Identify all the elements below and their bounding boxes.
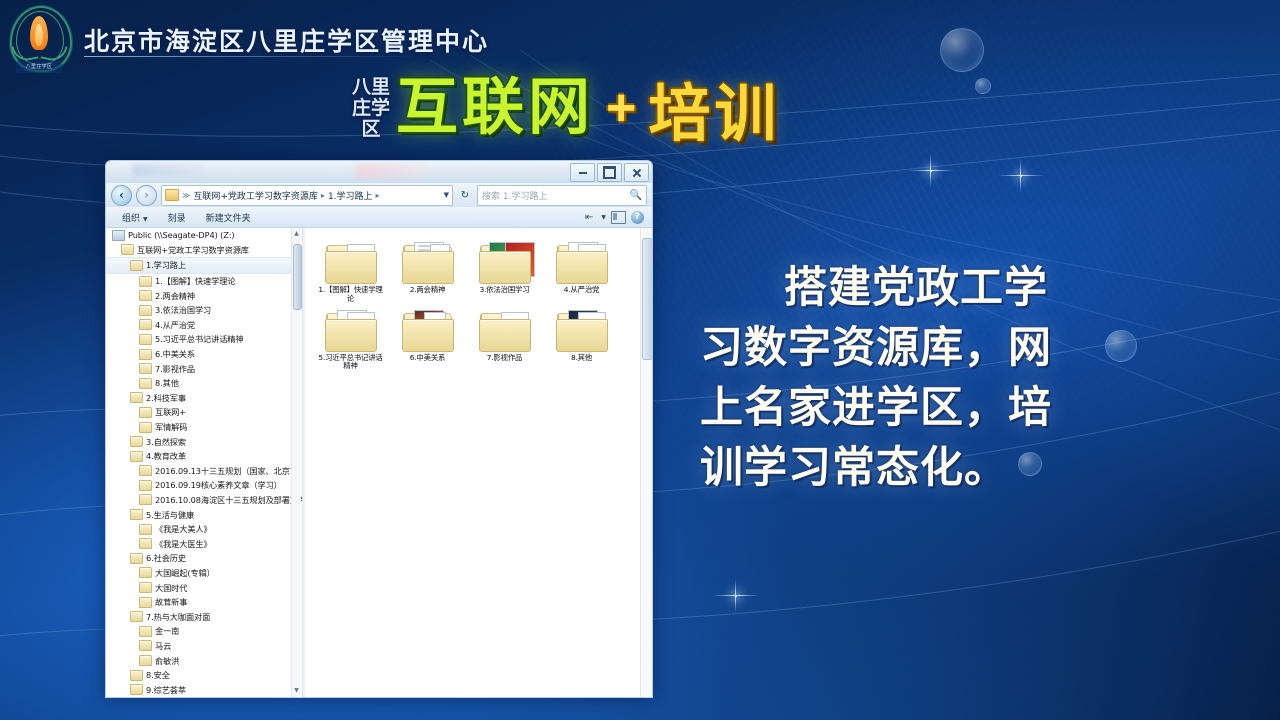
toolbar-right-group: ⇤ ▼ ? <box>585 211 646 224</box>
tree-item-label: 2016.10.08海淀区十三五规划及部署文件 <box>155 494 303 506</box>
folder-icon <box>139 363 152 374</box>
organization-name: 北京市海淀区八里庄学区管理中心 <box>84 22 489 58</box>
file-item-label: 8.其他 <box>571 354 592 363</box>
decorative-sparkle <box>1020 175 1022 177</box>
folder-icon <box>139 465 152 476</box>
folder-icon <box>139 422 152 433</box>
slogan-line-3: 上名家进学区，培 <box>700 378 1170 438</box>
tree-item-label: 4.教育改革 <box>146 450 186 462</box>
tree-item-label: 2.科技军事 <box>146 392 186 404</box>
tree-item-label: 8.其他 <box>155 377 179 389</box>
tree-item[interactable]: 故茸新事 <box>106 595 302 610</box>
close-button[interactable] <box>624 163 649 182</box>
tree-item[interactable]: 大国崛起(专辑） <box>106 566 302 581</box>
tree-item-label: 2.两会精神 <box>155 290 195 302</box>
file-item[interactable]: 6.中美关系 <box>394 308 461 372</box>
folder-icon <box>139 597 152 608</box>
new-folder-button[interactable]: 新建文件夹 <box>196 209 261 226</box>
folder-icon <box>479 240 531 284</box>
tree-item[interactable]: 7.热与大咖面对面 <box>106 609 302 624</box>
pane-splitter[interactable] <box>303 228 305 697</box>
folder-icon <box>325 240 377 284</box>
tree-item[interactable]: 俞敏洪 <box>106 653 302 668</box>
folder-icon <box>139 290 152 301</box>
folder-icon <box>556 308 608 352</box>
folder-icon <box>139 305 152 316</box>
breadcrumb-prefix: ≫ <box>182 191 190 200</box>
folder-icon <box>121 244 134 255</box>
folder-icon <box>139 582 152 593</box>
file-item[interactable]: 7.影视作品 <box>471 308 538 372</box>
file-item-label: 4.从严治党 <box>564 286 599 295</box>
file-item[interactable]: 3.依法治国学习 <box>471 240 538 304</box>
refresh-icon[interactable]: ↻ <box>457 186 473 204</box>
folder-icon <box>139 524 152 535</box>
breadcrumb-item-1[interactable]: 1.学习路上 <box>328 189 373 202</box>
window-titlebar[interactable] <box>106 161 652 183</box>
folder-icon <box>130 611 143 622</box>
address-bar: ‹ › ≫ 互联网+党政工学习数字资源库 ▸ 1.学习路上 ▸ ▼ ↻ 搜索 1… <box>106 183 652 207</box>
folder-icon <box>556 240 608 284</box>
explorer-body: Public (\\Seagate-DP4) (Z:)互联网+党政工学习数字资源… <box>106 228 652 697</box>
burn-button[interactable]: 刻录 <box>158 209 196 226</box>
tree-item[interactable]: 6.社会历史 <box>106 551 302 566</box>
tree-item[interactable]: 互联网+党政工学习数字资源库 <box>106 243 302 258</box>
tree-item-label: 互联网+党政工学习数字资源库 <box>137 244 249 256</box>
folder-icon <box>139 276 152 287</box>
tree-item[interactable]: 6.中美关系 <box>106 347 302 362</box>
chevron-down-icon[interactable]: ▼ <box>601 214 606 221</box>
tree-item[interactable]: 8.其他 <box>106 376 302 391</box>
tree-item[interactable]: 2.两会精神 <box>106 288 302 303</box>
folder-icon <box>139 538 152 549</box>
folder-icon <box>130 436 143 447</box>
folder-icon <box>130 451 143 462</box>
header-divider <box>84 56 414 57</box>
tree-item[interactable]: 5.习近平总书记讲话精神 <box>106 332 302 347</box>
folder-icon <box>130 553 143 564</box>
tree-item-label: 2016.09.13十三五规划（国家、北京市） <box>155 465 303 477</box>
tree-item-label: 9.综艺荟萃 <box>146 684 186 696</box>
folder-tree: Public (\\Seagate-DP4) (Z:)互联网+党政工学习数字资源… <box>106 228 302 697</box>
logo-plate-text: 八里庄学区 <box>16 61 62 73</box>
tree-item-label: 6.中美关系 <box>155 348 195 360</box>
tree-item-label: 3.自然探索 <box>146 436 186 448</box>
folder-icon <box>139 567 152 578</box>
change-view-icon[interactable]: ⇤ <box>585 212 593 223</box>
tree-item-label: 《我是大美人》 <box>155 523 212 535</box>
tree-item-label: 故茸新事 <box>155 596 187 608</box>
breadcrumb[interactable]: ≫ 互联网+党政工学习数字资源库 ▸ 1.学习路上 ▸ ▼ <box>161 185 453 206</box>
folder-icon <box>479 308 531 352</box>
tree-item[interactable]: 2016.09.19核心素养文章（学习） <box>106 478 302 493</box>
tree-item-label: Public (\\Seagate-DP4) (Z:) <box>128 230 235 240</box>
folder-icon <box>325 308 377 352</box>
tree-item-label: 马云 <box>155 640 171 652</box>
file-item-label: 3.依法治国学习 <box>480 286 530 295</box>
file-item[interactable]: 8.其他 <box>548 308 615 372</box>
tree-item[interactable]: 3.依法治国学习 <box>106 303 302 318</box>
tree-item[interactable]: 2016.10.08海淀区十三五规划及部署文件 <box>106 493 302 508</box>
file-item[interactable]: 1.【图解】快速学理论 <box>317 240 384 304</box>
window-controls <box>570 163 649 182</box>
tree-item[interactable]: 4.从严治党 <box>106 318 302 333</box>
tree-item-label: 1.【图解】快速学理论 <box>155 275 235 287</box>
folder-icon <box>165 189 179 201</box>
decorative-sparkle <box>930 170 932 172</box>
file-item[interactable]: 5.习近平总书记讲话精神 <box>317 308 384 372</box>
chevron-down-icon: ▼ <box>143 216 148 223</box>
banner-plus-sign: + <box>606 78 636 138</box>
tree-item-label: 3.依法治国学习 <box>155 304 211 316</box>
back-button[interactable]: ‹ <box>111 185 132 206</box>
tree-item[interactable]: 7.影视作品 <box>106 361 302 376</box>
organize-button[interactable]: 组织▼ <box>112 209 158 226</box>
file-item-label: 5.习近平总书记讲话精神 <box>317 354 384 372</box>
tree-item-label: 金一南 <box>155 625 179 637</box>
tree-item[interactable]: 大国时代 <box>106 580 302 595</box>
slogan-text: 搭建党政工学 习数字资源库，网 上名家进学区，培 训学习常态化。 <box>700 258 1170 498</box>
tree-item-label: 大国时代 <box>155 582 187 594</box>
tree-item[interactable]: 军情解码 <box>106 420 302 435</box>
file-item[interactable]: 4.从严治党 <box>548 240 615 304</box>
file-list-pane[interactable]: 1.【图解】快速学理论2.两会精神3.依法治国学习4.从严治党5.习近平总书记讲… <box>303 228 652 697</box>
explorer-toolbar: 组织▼ 刻录 新建文件夹 ⇤ ▼ ? <box>106 207 652 228</box>
file-item[interactable]: 2.两会精神 <box>394 240 461 304</box>
tree-item[interactable]: 8.安全 <box>106 668 302 683</box>
tree-item[interactable]: 4.教育改革 <box>106 449 302 464</box>
organization-logo-icon: 八里庄学区 <box>6 4 74 76</box>
search-input[interactable]: 搜索 1.学习路上 🔍 <box>477 185 647 206</box>
tree-item[interactable]: 3.自然探索 <box>106 434 302 449</box>
tree-item-label: 5.习近平总书记讲话精神 <box>155 333 244 345</box>
slogan-line-1: 搭建党政工学 <box>700 258 1170 318</box>
tree-item-label: 5.生活与健康 <box>146 509 194 521</box>
folder-icon <box>139 655 152 666</box>
search-icon: 🔍 <box>630 190 642 201</box>
windows-explorer-window: ‹ › ≫ 互联网+党政工学习数字资源库 ▸ 1.学习路上 ▸ ▼ ↻ 搜索 1… <box>105 160 653 698</box>
breadcrumb-separator: ▸ <box>376 191 380 200</box>
breadcrumb-separator: ▸ <box>321 191 325 200</box>
scrollbar-thumb[interactable] <box>293 244 302 310</box>
folder-icon <box>139 334 152 345</box>
banner-title: 八里庄学区 互联网 + 培训 <box>350 58 780 158</box>
tree-item-label: 4.从严治党 <box>155 319 195 331</box>
nav-pane-scrollbar[interactable]: ▲ ▼ <box>291 228 301 697</box>
file-grid: 1.【图解】快速学理论2.两会精神3.依法治国学习4.从严治党5.习近平总书记讲… <box>303 228 617 371</box>
file-item-label: 2.两会精神 <box>410 286 445 295</box>
folder-icon <box>130 509 143 520</box>
folder-icon <box>139 378 152 389</box>
folder-icon <box>139 319 152 330</box>
tree-item-label: 大国崛起(专辑） <box>155 567 215 579</box>
tree-item[interactable]: 马云 <box>106 639 302 654</box>
tree-item-label: 军情解码 <box>155 421 187 433</box>
chevron-down-icon[interactable]: ▼ <box>444 191 449 199</box>
folder-icon <box>130 260 143 271</box>
tree-item[interactable]: 《我是大医生》 <box>106 536 302 551</box>
forward-button[interactable]: › <box>136 185 157 206</box>
tree-item-label: 《我是大医生》 <box>155 538 212 550</box>
drive-icon <box>112 230 125 241</box>
tree-item-label: 互联网+ <box>155 406 186 418</box>
tree-item-label: 俞敏洪 <box>155 655 179 667</box>
file-pane-scrollbar[interactable] <box>640 228 652 697</box>
banner-sub-text: 培训 <box>648 63 780 153</box>
preview-pane-icon[interactable] <box>611 211 626 224</box>
minimize-button[interactable] <box>570 163 595 182</box>
tree-item[interactable]: 5.生活与健康 <box>106 507 302 522</box>
tree-item[interactable]: 1.【图解】快速学理论 <box>106 274 302 289</box>
folder-icon <box>402 240 454 284</box>
folder-icon <box>139 640 152 651</box>
folder-icon <box>130 684 143 695</box>
tree-item[interactable]: 互联网+ <box>106 405 302 420</box>
tree-item[interactable]: Public (\\Seagate-DP4) (Z:) <box>106 228 302 243</box>
file-item-label: 7.影视作品 <box>487 354 522 363</box>
tree-item-label: 8.安全 <box>146 669 170 681</box>
tree-item[interactable]: 金一南 <box>106 624 302 639</box>
maximize-button[interactable] <box>597 163 622 182</box>
folder-icon <box>130 670 143 681</box>
tree-item-label: 7.热与大咖面对面 <box>146 611 210 623</box>
slogan-line-4: 训学习常态化。 <box>700 438 1170 498</box>
search-placeholder: 搜索 1.学习路上 <box>482 189 630 202</box>
page-header: 八里庄学区 北京市海淀区八里庄学区管理中心 八里庄学区 互联网 + 培训 <box>0 0 1280 160</box>
breadcrumb-item-0[interactable]: 互联网+党政工学习数字资源库 <box>193 189 318 202</box>
folder-icon <box>139 349 152 360</box>
navigation-pane[interactable]: Public (\\Seagate-DP4) (Z:)互联网+党政工学习数字资源… <box>106 228 303 697</box>
tree-item-label: 2016.09.19核心素养文章（学习） <box>155 479 282 491</box>
file-item-label: 6.中美关系 <box>410 354 445 363</box>
titlebar-blurred-overlay <box>356 164 426 178</box>
decorative-sparkle <box>735 595 737 597</box>
banner-vertical-label: 八里庄学区 <box>350 65 392 151</box>
tree-item[interactable]: 2.科技军事 <box>106 391 302 406</box>
tree-item[interactable]: 《我是大美人》 <box>106 522 302 537</box>
folder-icon <box>139 626 152 637</box>
folder-icon <box>139 480 152 491</box>
file-item-label: 1.【图解】快速学理论 <box>317 286 384 304</box>
tree-item-label: 1.学习路上 <box>146 259 186 271</box>
tree-item[interactable]: 2016.09.13十三五规划（国家、北京市） <box>106 464 302 479</box>
scrollbar-thumb[interactable] <box>642 238 652 360</box>
folder-icon <box>139 494 152 505</box>
help-icon[interactable]: ? <box>631 211 644 224</box>
tree-item[interactable]: 1.学习路上 <box>106 257 302 274</box>
folder-icon <box>402 308 454 352</box>
organize-label: 组织 <box>122 214 140 224</box>
tree-item[interactable]: 9.综艺荟萃 <box>106 682 302 697</box>
tree-item-label: 7.影视作品 <box>155 363 195 375</box>
banner-main-text: 互联网 <box>396 77 594 139</box>
folder-icon <box>139 407 152 418</box>
titlebar-ghost-text <box>132 164 204 176</box>
tree-item-label: 6.社会历史 <box>146 552 186 564</box>
scroll-down-icon[interactable]: ▼ <box>293 687 300 695</box>
folder-icon <box>130 392 143 403</box>
slogan-line-2: 习数字资源库，网 <box>700 318 1170 378</box>
scroll-up-icon[interactable]: ▲ <box>293 230 300 238</box>
